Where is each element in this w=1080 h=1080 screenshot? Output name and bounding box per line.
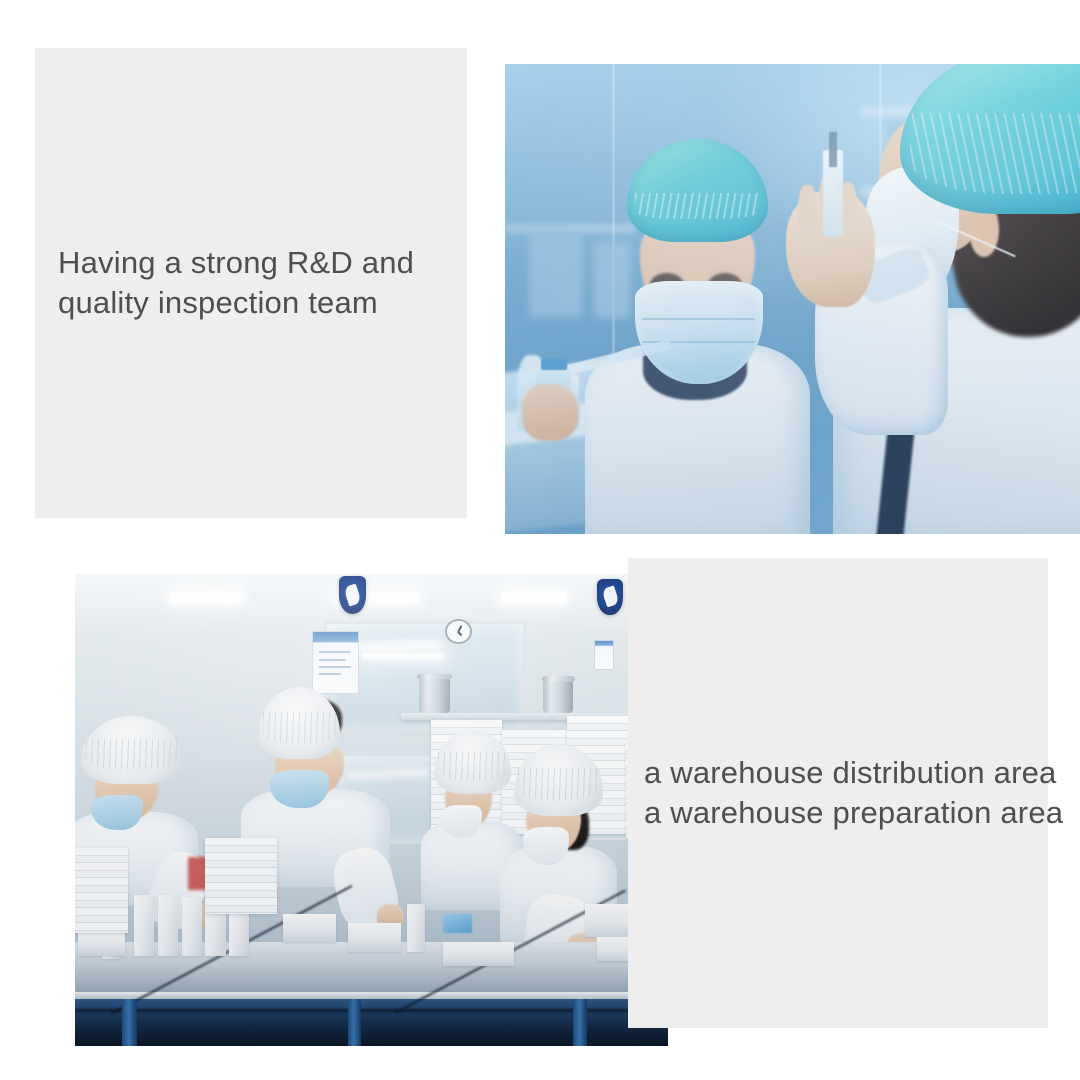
hairnet-cap <box>259 687 340 759</box>
caption-line-bottom-1: a warehouse distribution area <box>644 753 1048 793</box>
notice-line <box>319 666 351 668</box>
ceiling-light <box>502 593 567 603</box>
finger <box>798 185 816 249</box>
blue-safety-sign-icon <box>597 579 623 615</box>
wall-label <box>594 640 614 670</box>
under-table-area <box>75 999 668 1046</box>
raised-arm-with-vial <box>754 167 956 458</box>
packing-hall-scene <box>75 574 668 1046</box>
warehouse-packing-photo <box>75 574 668 1046</box>
carton-flat <box>443 942 514 966</box>
carton-stack <box>205 838 276 914</box>
notice-line <box>319 673 341 675</box>
caption-line-top-1: Having a strong R&D and <box>58 243 467 283</box>
caption-pane-bottom: a warehouse distribution area a warehous… <box>628 558 1048 1028</box>
ceiling-light <box>170 593 241 603</box>
hairnet-cap <box>514 744 603 816</box>
carton <box>407 904 425 951</box>
vial-tip <box>829 132 837 167</box>
blue-safety-sign-icon <box>339 576 366 614</box>
carton <box>158 895 178 956</box>
table-leg <box>348 999 361 1046</box>
page-root: Having a strong R&D and quality inspecti… <box>0 0 1080 1080</box>
notice-line <box>319 659 347 661</box>
bottle-cap <box>541 359 567 371</box>
face-mask <box>270 770 329 808</box>
hand <box>522 384 579 442</box>
carton-flat <box>348 923 401 951</box>
hairnet-cap <box>627 139 768 242</box>
steel-pot <box>543 680 573 713</box>
caption-pane-top: Having a strong R&D and quality inspecti… <box>35 48 467 518</box>
carton-flat <box>283 914 336 942</box>
notice-board <box>312 631 358 694</box>
hairnet-cap <box>81 716 182 784</box>
window-interior-light <box>362 653 444 659</box>
clock-hand-hour <box>458 631 463 636</box>
table-leg <box>573 999 587 1046</box>
face-mask <box>441 805 481 839</box>
mask-pleat <box>642 318 755 320</box>
carton <box>134 895 154 956</box>
steel-pot <box>419 678 450 713</box>
table-leg <box>122 999 136 1046</box>
blue-card <box>443 914 473 933</box>
carton-stack <box>75 848 128 933</box>
notice-line <box>319 651 350 653</box>
lab-scene <box>505 64 1080 534</box>
carton <box>182 897 202 956</box>
face-mask <box>523 827 569 865</box>
hands-with-pipette <box>517 337 754 506</box>
caption-line-bottom-2: a warehouse preparation area <box>644 793 1048 833</box>
carton-flat <box>78 933 125 957</box>
hairnet-cap <box>434 730 511 795</box>
rd-quality-inspection-photo <box>505 64 1080 534</box>
wall-clock <box>445 619 472 644</box>
caption-line-top-2: quality inspection team <box>58 283 467 323</box>
